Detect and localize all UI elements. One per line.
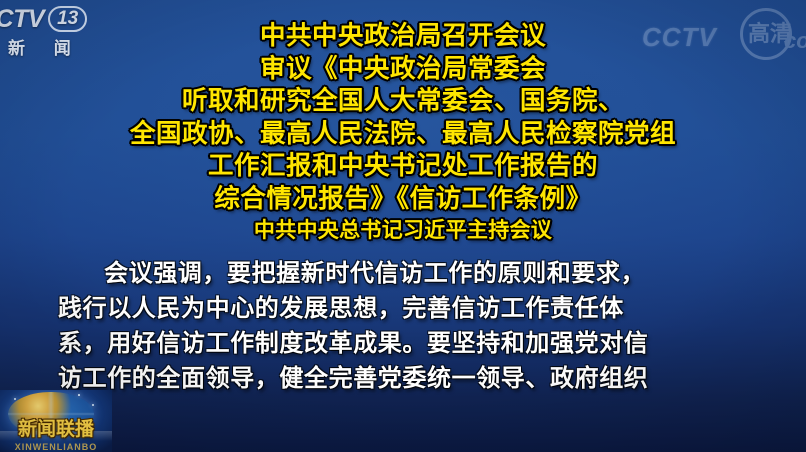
program-logo-pinyin: XINWENLIANBO — [0, 442, 112, 452]
headline-block: 中共中央政治局召开会议 审议《中央政治局常委会 听取和研究全国人大常委会、国务院… — [0, 20, 806, 246]
headline-line-2: 审议《中央政治局常委会 — [0, 53, 806, 86]
headline-subline: 中共中央总书记习近平主持会议 — [0, 215, 806, 246]
headline-line-6: 综合情况报告》《信访工作条例》 — [0, 183, 806, 216]
program-logo-title: 新闻联播 — [0, 414, 112, 441]
headline-line-1: 中共中央政治局召开会议 — [0, 20, 806, 53]
news-body-text: 会议强调，要把握新时代信访工作的原则和要求， 践行以人民为中心的发展思想，完善信… — [58, 256, 762, 396]
broadcast-screen: CCTV 13 新 闻 CCTV 高清 com 中共中央政治局召开会议 审议《中… — [0, 0, 806, 452]
body-line-2: 践行以人民为中心的发展思想，完善信访工作责任体 — [58, 291, 762, 326]
program-logo-xinwenlianbo: 新闻联播 XINWENLIANBO — [0, 390, 112, 452]
sparkle-icon — [92, 404, 94, 406]
body-line-1: 会议强调，要把握新时代信访工作的原则和要求， — [58, 256, 762, 291]
sparkle-icon — [78, 394, 80, 396]
headline-line-5: 工作汇报和中央书记处工作报告的 — [0, 150, 806, 183]
body-line-3: 系，用好信访工作制度改革成果。要坚持和加强党对信 — [58, 326, 762, 361]
headline-line-4: 全国政协、最高人民法院、最高人民检察院党组 — [0, 118, 806, 151]
body-line-4: 访工作的全面领导，健全完善党委统一领导、政府组织 — [58, 361, 762, 396]
headline-line-3: 听取和研究全国人大常委会、国务院、 — [0, 85, 806, 118]
sparkle-icon — [14, 398, 16, 400]
